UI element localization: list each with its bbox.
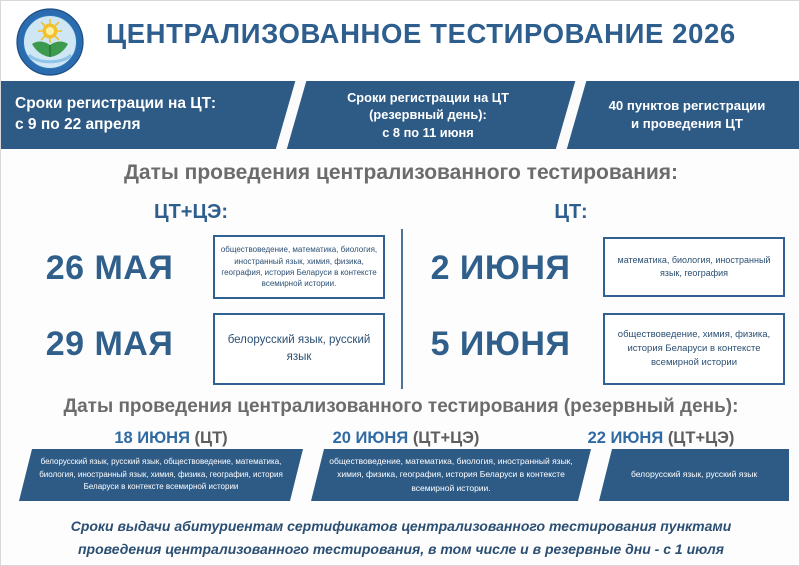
registration-cell-reserve-line1: Сроки регистрации на ЦТ	[347, 89, 509, 106]
reserve-section-heading: Даты проведения централизованного тестир…	[1, 396, 800, 418]
column-title-ct-ce: ЦТ+ЦЭ:	[61, 201, 321, 224]
page-footer: Сроки выдачи абитуриентам сертификатов ц…	[1, 509, 800, 566]
registration-cell-points: 40 пунктов регистрации и проведения ЦТ	[573, 81, 800, 149]
date-2-june: 2 ИЮНЯ	[413, 249, 588, 288]
reserve-date-22-june: 22 ИЮНЯ (ЦТ+ЦЭ)	[531, 429, 791, 448]
column-title-ct: ЦТ:	[441, 201, 701, 224]
reserve-subjects-20-june: обществоведение, математика, биология, и…	[311, 449, 591, 501]
registration-cell-dates-line2: с 9 по 22 апреля	[15, 115, 141, 136]
subjects-2-june: математика, биология, иностранный язык, …	[603, 237, 785, 297]
reserve-date-22-june-value: 22 ИЮНЯ	[588, 429, 664, 447]
subjects-5-june: обществоведение, химия, физика, история …	[603, 313, 785, 385]
page-title-text: ЦЕНТРАЛИЗОВАННОЕ ТЕСТИРОВАНИЕ 2026	[106, 18, 736, 49]
reserve-date-22-june-kind: (ЦТ+ЦЭ)	[668, 429, 735, 447]
footer-line-1: Сроки выдачи абитуриентам сертификатов ц…	[71, 515, 732, 538]
date-5-june: 5 ИЮНЯ	[413, 325, 588, 364]
column-divider	[401, 229, 403, 389]
registration-cell-reserve: Сроки регистрации на ЦТ (резервный день)…	[293, 81, 563, 149]
reserve-date-18-june-kind: (ЦТ)	[195, 429, 228, 447]
reserve-date-18-june-value: 18 ИЮНЯ	[114, 429, 190, 447]
registration-cell-points-line2: и проведения ЦТ	[631, 115, 743, 133]
ministry-emblem-icon	[15, 7, 85, 77]
date-29-may: 29 МАЯ	[17, 325, 202, 364]
date-26-may: 26 МАЯ	[17, 249, 202, 288]
footer-line-2: проведения централизованного тестировани…	[78, 538, 724, 561]
registration-cell-reserve-line2: (резервный день):	[369, 106, 487, 123]
registration-cell-dates-line1: Сроки регистрации на ЦТ:	[15, 94, 216, 115]
reserve-subjects-22-june: белорусский язык, русский язык	[599, 449, 789, 501]
registration-cell-points-line1: 40 пунктов регистрации	[609, 97, 766, 115]
infographic-page: ЦЕНТРАЛИЗОВАННОЕ ТЕСТИРОВАНИЕ 2026 Сроки…	[0, 0, 800, 566]
reserve-subjects-18-june: белорусский язык, русский язык, общество…	[19, 449, 303, 501]
page-header: ЦЕНТРАЛИЗОВАННОЕ ТЕСТИРОВАНИЕ 2026	[1, 1, 800, 79]
reserve-date-20-june-value: 20 ИЮНЯ	[333, 429, 409, 447]
reserve-date-20-june-kind: (ЦТ+ЦЭ)	[413, 429, 480, 447]
registration-cell-dates: Сроки регистрации на ЦТ: с 9 по 22 апрел…	[1, 81, 286, 149]
main-section-heading: Даты проведения централизованного тестир…	[1, 161, 800, 185]
reserve-date-20-june: 20 ИЮНЯ (ЦТ+ЦЭ)	[276, 429, 536, 448]
reserve-date-18-june: 18 ИЮНЯ (ЦТ)	[41, 429, 301, 448]
registration-bar: Сроки регистрации на ЦТ: с 9 по 22 апрел…	[1, 81, 800, 149]
subjects-26-may: обществоведение, математика, биология, и…	[213, 235, 385, 299]
subjects-29-may: белорусский язык, русский язык	[213, 313, 385, 385]
page-title: ЦЕНТРАЛИЗОВАННОЕ ТЕСТИРОВАНИЕ 2026	[106, 18, 786, 50]
registration-cell-reserve-line3: с 8 по 11 июня	[382, 124, 474, 141]
